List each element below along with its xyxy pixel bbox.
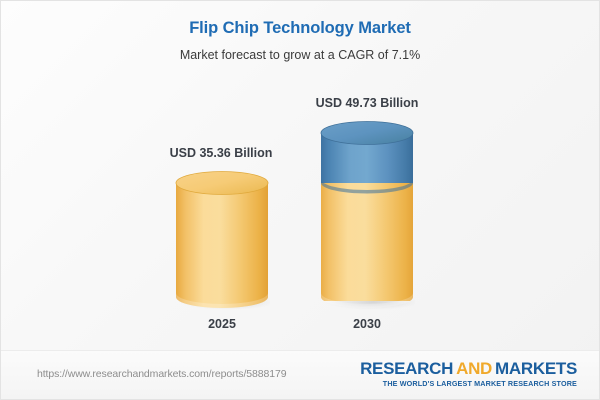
logo-word-and: AND [456, 359, 492, 378]
report-url-link[interactable]: https://www.researchandmarkets.com/repor… [37, 368, 286, 380]
bar-value-label-2025: USD 35.36 Billion [111, 146, 331, 160]
chart-card: Flip Chip Technology Market Market forec… [0, 0, 600, 400]
category-label-2030: 2030 [267, 317, 467, 331]
logo-word-research: RESEARCH [360, 359, 453, 378]
logo-word-markets: MARKETS [495, 359, 577, 378]
bar-value-label-2030: USD 49.73 Billion [257, 96, 477, 110]
footer: https://www.researchandmarkets.com/repor… [1, 350, 599, 399]
logo-wordmark: RESEARCHANDMARKETS [360, 360, 577, 377]
bar-cylinder-2030[interactable] [319, 119, 415, 316]
logo-tagline: THE WORLD'S LARGEST MARKET RESEARCH STOR… [360, 380, 577, 387]
cylinder-2030-svg [319, 119, 415, 311]
research-and-markets-logo[interactable]: RESEARCHANDMARKETS THE WORLD'S LARGEST M… [360, 360, 577, 387]
chart-plot-area: USD 35.36 Billion [1, 1, 600, 351]
cylinder-2025-svg [174, 169, 270, 311]
bar-cylinder-2025[interactable] [174, 169, 270, 316]
